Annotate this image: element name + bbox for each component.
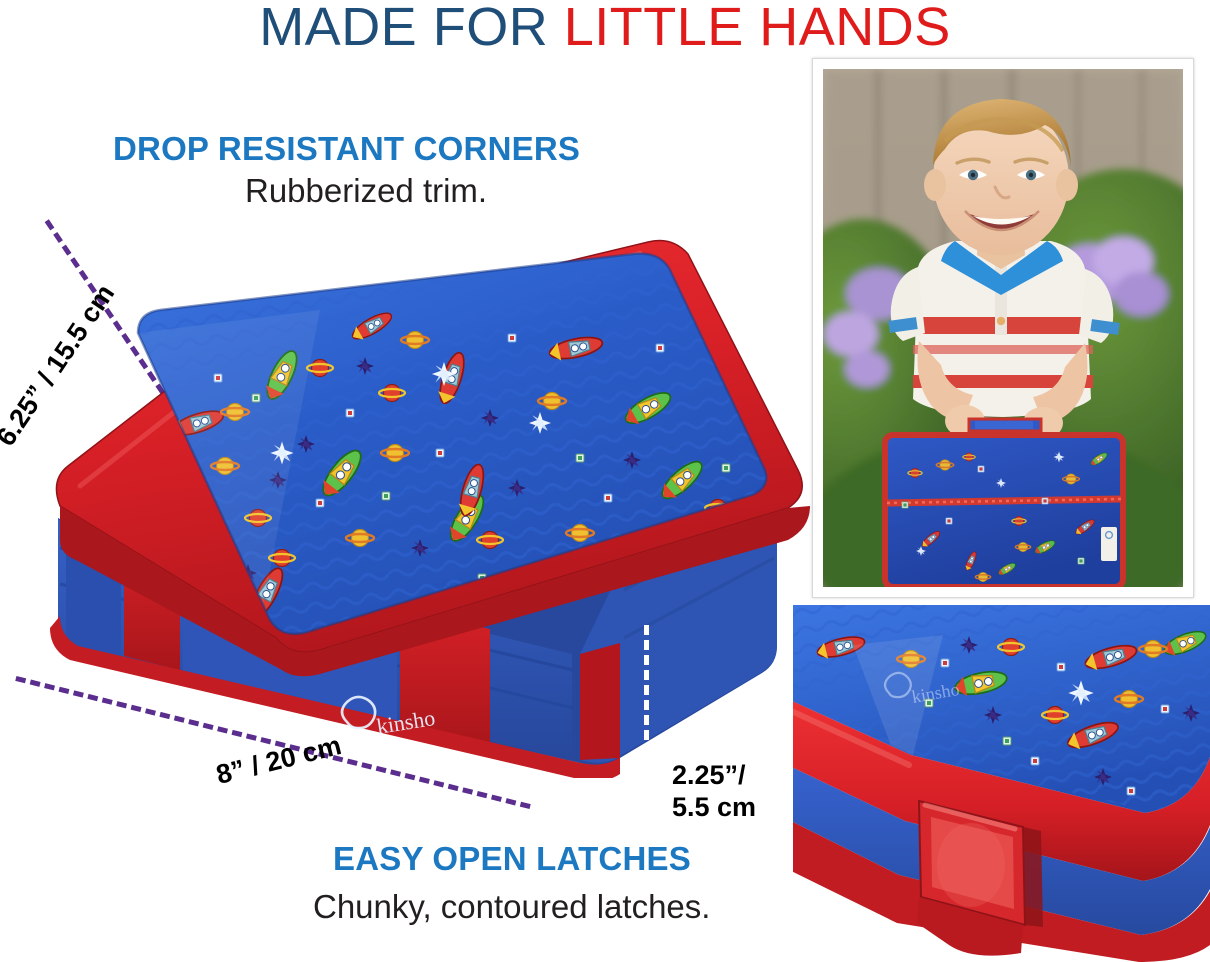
page-title: MADE FOR LITTLE HANDS [0, 0, 1210, 58]
feature-title-drop-resistant-corners: DROP RESISTANT CORNERS [113, 130, 580, 168]
infographic-page: MADE FOR LITTLE HANDS DROP RESISTANT COR… [0, 0, 1210, 962]
lifestyle-photo [823, 69, 1183, 587]
feature-title-easy-open-latches: EASY OPEN LATCHES [333, 840, 691, 878]
product-image-lunchbox: kinsho [20, 218, 810, 778]
feature-subtitle-rubberized-trim: Rubberized trim. [245, 172, 487, 210]
page-title-part-a: MADE FOR [259, 0, 564, 57]
latch-closeup-image: kinsho [793, 605, 1210, 962]
dimension-guide-depth [644, 625, 649, 755]
page-title-part-b: LITTLE HANDS [564, 0, 951, 57]
feature-subtitle-chunky-contoured-latches: Chunky, contoured latches. [313, 888, 710, 926]
dimension-label-depth-line2: 5.5 cm [672, 792, 756, 822]
lifestyle-photo-frame [812, 58, 1194, 598]
